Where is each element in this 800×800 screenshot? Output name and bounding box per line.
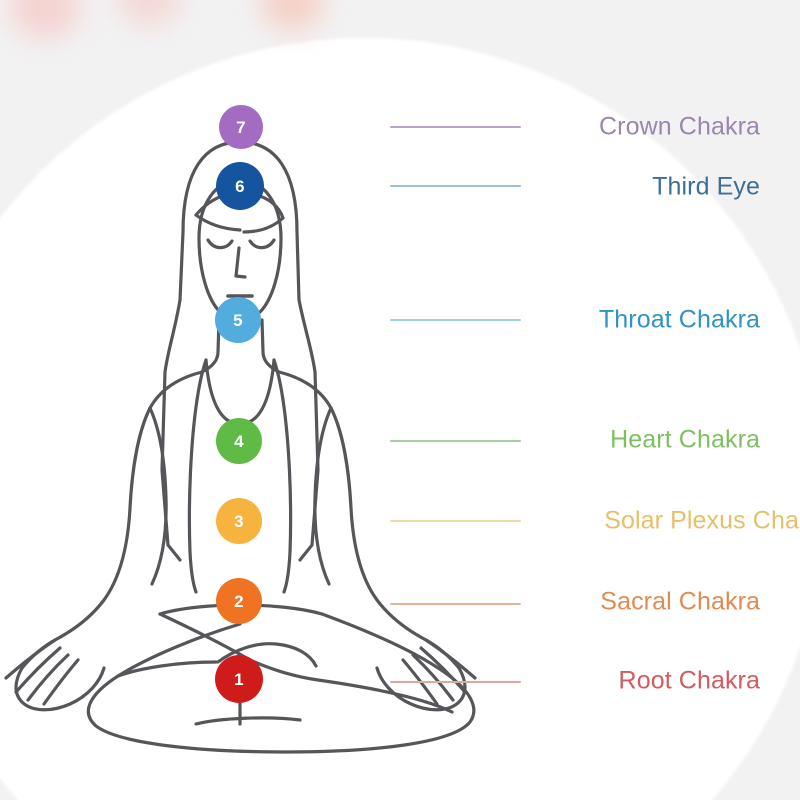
chakra-dot-3[interactable]: 3 [216, 498, 262, 544]
chakra-label-5: Throat Chakra [599, 306, 760, 335]
leader-line-3 [390, 520, 521, 522]
chakra-number-2: 2 [234, 593, 244, 610]
chakra-number-6: 6 [235, 178, 245, 195]
chakra-dot-1[interactable]: 1 [215, 655, 263, 703]
chakra-number-1: 1 [234, 671, 244, 688]
leader-line-5 [390, 319, 521, 321]
chakra-label-2: Sacral Chakra [600, 588, 760, 617]
leader-line-7 [390, 126, 521, 128]
chakra-label-6: Third Eye [652, 173, 760, 202]
chakra-number-7: 7 [236, 119, 246, 136]
chakra-dot-7[interactable]: 7 [219, 105, 263, 149]
chakra-number-3: 3 [234, 513, 244, 530]
leader-line-4 [390, 440, 521, 442]
chakra-label-3: Solar Plexus Chakra [604, 507, 800, 536]
chakra-dot-2[interactable]: 2 [216, 578, 262, 624]
chakra-label-1: Root Chakra [619, 667, 760, 696]
chakra-dot-5[interactable]: 5 [215, 297, 261, 343]
chakra-diagram: 7Crown Chakra6Third Eye5Throat Chakra4He… [0, 0, 800, 800]
chakra-label-7: Crown Chakra [599, 113, 760, 142]
chakra-dot-4[interactable]: 4 [216, 418, 262, 464]
chakra-number-4: 4 [234, 433, 244, 450]
leader-line-6 [390, 185, 521, 187]
leader-line-2 [390, 603, 521, 605]
chakra-number-5: 5 [233, 312, 243, 329]
leader-line-1 [390, 681, 521, 683]
chakra-label-4: Heart Chakra [610, 426, 760, 455]
chakra-dot-6[interactable]: 6 [216, 162, 264, 210]
